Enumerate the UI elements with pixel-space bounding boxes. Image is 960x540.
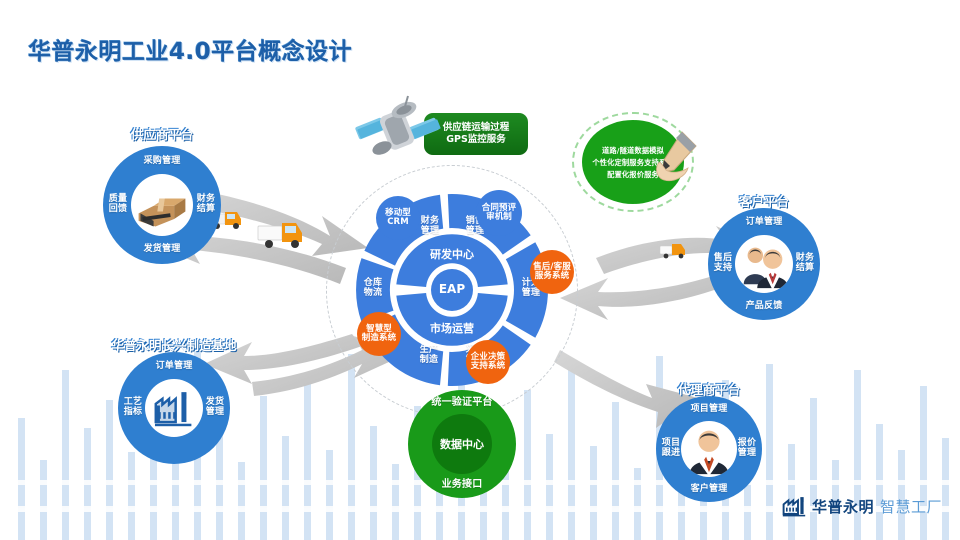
brand-logo: 华普永明 智慧工厂 — [782, 494, 942, 518]
agent-platform-image — [681, 421, 737, 477]
base-label-right: 发货 管理 — [202, 397, 228, 417]
gps-line-2: GPS监控服务 — [446, 134, 506, 146]
businessman-icon — [682, 422, 736, 476]
customer-platform-title: 客户平台 — [739, 191, 789, 210]
data-center-label-top: 统一验证平台 — [408, 398, 516, 408]
manufacturing-base-node[interactable]: 订单管理 工艺 指标 发货 管理 — [118, 352, 230, 464]
logo-tagline: 智慧工厂 — [880, 496, 942, 517]
customer-label-top: 订单管理 — [708, 217, 820, 227]
hub-bubble-aftersales-system[interactable]: 售后/客服 服务系统 — [530, 250, 574, 294]
agent-platform-node[interactable]: 项目管理 项目 跟进 报价 管理 客户管理 — [656, 396, 762, 502]
cardboard-boxes-icon — [133, 176, 191, 234]
data-center-core: 数据中心 — [432, 414, 492, 474]
supplier-label-right: 财务 结算 — [193, 194, 219, 214]
hub-outer-label-4: 生产 制造 — [414, 345, 444, 365]
customer-label-right: 财务 结算 — [792, 253, 818, 273]
hub-bubble-decision-support[interactable]: 企业决策 支持系统 — [466, 340, 510, 384]
hand-pen-icon — [652, 126, 702, 188]
delivery-truck-icon — [659, 242, 689, 262]
supplier-label-bottom: 发货管理 — [103, 244, 221, 254]
hub-outer-label-5: 仓库 物流 — [358, 278, 388, 298]
logo-brand: 华普永明 — [812, 496, 874, 517]
hub-inner-top-label: 研发中心 — [352, 246, 552, 262]
agent-label-right: 报价 管理 — [734, 438, 760, 458]
agent-label-bottom: 客户管理 — [656, 484, 762, 494]
page-title: 华普永明工业4.0平台概念设计 — [28, 32, 352, 66]
satellite-icon — [352, 92, 444, 168]
customer-platform-image — [735, 235, 793, 293]
hub-bubble-smart-manufacturing[interactable]: 智慧型 制造系统 — [357, 312, 401, 356]
manufacturing-base-title: 华普永明长兴制造基地 — [111, 335, 236, 354]
agent-label-left: 项目 跟进 — [658, 438, 684, 458]
supplier-label-top: 采购管理 — [103, 156, 221, 166]
factory-icon — [150, 384, 198, 432]
customer-label-left: 售后 支持 — [710, 253, 736, 273]
supplier-platform-node[interactable]: 采购管理 质量 回馈 财务 结算 发货管理 — [103, 146, 221, 264]
customer-platform-node[interactable]: 订单管理 售后 支持 财务 结算 产品反馈 — [708, 208, 820, 320]
manufacturing-base-image — [145, 379, 203, 437]
base-label-left: 工艺 指标 — [120, 397, 146, 417]
agent-platform-title: 代理商平台 — [678, 379, 741, 398]
gps-line-1: 供应链运输过程 — [443, 122, 510, 134]
hub-bubble-mobile-crm[interactable]: 移动型 CRM — [376, 196, 420, 240]
hub-bubble-contract-review[interactable]: 合同预评 审机制 — [476, 190, 522, 236]
supplier-label-left: 质量 回馈 — [105, 194, 131, 214]
factory-icon — [782, 494, 806, 518]
supplier-platform-image — [131, 174, 193, 236]
data-center-core-label: 数据中心 — [440, 436, 484, 452]
delivery-truck-icon — [256, 220, 308, 254]
data-center-label-bottom: 业务接口 — [408, 480, 516, 490]
business-people-icon — [736, 236, 792, 292]
supplier-platform-title: 供应商平台 — [131, 124, 194, 143]
data-center-node[interactable]: 数据中心 统一验证平台 业务接口 — [408, 390, 516, 498]
slide-canvas: 华普永明工业4.0平台概念设计 — [0, 0, 960, 540]
customer-label-bottom: 产品反馈 — [708, 301, 820, 311]
base-label-top: 订单管理 — [118, 361, 230, 371]
agent-label-top: 项目管理 — [656, 404, 762, 414]
